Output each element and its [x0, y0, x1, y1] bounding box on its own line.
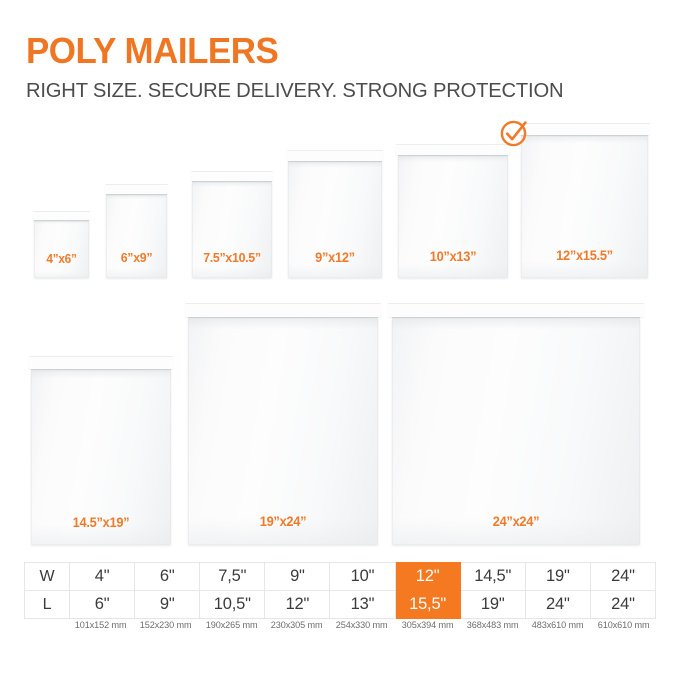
mailer-4x6[interactable]: 4”x6”: [34, 211, 89, 278]
cell-width-5-selected[interactable]: 12": [395, 563, 460, 591]
mm-dimensions-row: 101x152 mm 152x230 mm 190x265 mm 230x305…: [24, 620, 656, 631]
mailer-flap: [185, 303, 381, 317]
mailer-flap: [105, 184, 168, 194]
mailer-size-label: 12”x15.5”: [524, 248, 645, 263]
mailer-size-label: 14.5”x19”: [35, 515, 168, 530]
mailer-7-5x10-5[interactable]: 7.5”x10.5”: [192, 171, 272, 278]
cell-width-1[interactable]: 6": [135, 563, 200, 591]
check-circle-icon: [498, 115, 532, 149]
table-row-length: L 6" 9" 10,5" 12" 13" 15,5" 19" 24" 24": [25, 591, 656, 619]
mailer-14-5x19[interactable]: 14.5”x19”: [31, 356, 171, 545]
mm-value-5: 305x394 mm: [396, 620, 459, 631]
cell-length-1[interactable]: 9": [135, 591, 200, 619]
mm-value-0: 101x152 mm: [69, 620, 132, 631]
row-header-width: W: [25, 563, 70, 591]
header: POLY MAILERS RIGHT SIZE. SECURE DELIVERY…: [26, 30, 646, 104]
cell-length-0[interactable]: 6": [70, 591, 135, 619]
mailer-19x24[interactable]: 19”x24”: [188, 303, 378, 545]
cell-length-3[interactable]: 12": [265, 591, 330, 619]
mailer-size-label: 19”x24”: [193, 514, 374, 529]
mailer-size-label: 24”x24”: [398, 514, 634, 529]
table-row-width: W 4" 6" 7,5" 9" 10" 12" 14,5" 19" 24": [25, 563, 656, 591]
cell-width-8[interactable]: 24": [590, 563, 655, 591]
cell-length-4[interactable]: 13": [330, 591, 395, 619]
cell-length-5-selected[interactable]: 15,5": [395, 591, 460, 619]
mailer-flap: [519, 123, 650, 135]
mailer-6x9[interactable]: 6”x9”: [106, 184, 167, 278]
mailer-size-label: 7.5”x10.5”: [194, 250, 270, 265]
row-header-length: L: [25, 591, 70, 619]
cell-length-8[interactable]: 24": [590, 591, 655, 619]
cell-width-7[interactable]: 19": [525, 563, 590, 591]
page-subtitle: RIGHT SIZE. SECURE DELIVERY. STRONG PROT…: [26, 78, 637, 104]
mailer-body: [34, 221, 89, 278]
poly-mailers-size-chart: POLY MAILERS RIGHT SIZE. SECURE DELIVERY…: [0, 0, 680, 680]
mailer-flap: [33, 211, 90, 220]
page-title: POLY MAILERS: [26, 30, 627, 72]
mailer-flap: [388, 303, 643, 317]
mm-row-spacer: [24, 620, 68, 631]
mm-value-6: 368x483 mm: [461, 620, 524, 631]
mailer-flap: [29, 356, 173, 369]
cell-width-6[interactable]: 14,5": [460, 563, 525, 591]
mm-value-7: 483x610 mm: [527, 620, 590, 631]
mailer-12x15-5[interactable]: 12”x15.5”: [521, 123, 648, 278]
cell-width-2[interactable]: 7,5": [200, 563, 265, 591]
mailer-flap: [191, 171, 273, 181]
mailer-9x12[interactable]: 9”x12”: [288, 150, 382, 278]
mm-value-4: 254x330 mm: [331, 620, 394, 631]
cell-width-0[interactable]: 4": [70, 563, 135, 591]
mailer-size-label: 10”x13”: [401, 249, 506, 264]
mailer-size-label: 6”x9”: [108, 250, 166, 265]
mailer-size-label: 9”x12”: [290, 250, 379, 265]
mm-value-2: 190x265 mm: [200, 620, 263, 631]
mailer-size-label: 4”x6”: [35, 252, 87, 266]
cell-length-6[interactable]: 19": [460, 591, 525, 619]
mailer-24x24[interactable]: 24”x24”: [392, 303, 640, 545]
mailer-body: [392, 318, 640, 545]
cell-width-3[interactable]: 9": [265, 563, 330, 591]
mm-value-1: 152x230 mm: [135, 620, 198, 631]
cell-length-2[interactable]: 10,5": [200, 591, 265, 619]
cell-length-7[interactable]: 24": [525, 591, 590, 619]
mailer-flap: [287, 150, 384, 161]
mm-value-8: 610x610 mm: [592, 620, 655, 631]
size-table: W 4" 6" 7,5" 9" 10" 12" 14,5" 19" 24" L …: [24, 562, 656, 619]
mailer-body: [106, 195, 167, 278]
mm-value-3: 230x305 mm: [265, 620, 328, 631]
cell-width-4[interactable]: 10": [330, 563, 395, 591]
mailer-flap: [396, 144, 509, 155]
mailer-10x13[interactable]: 10”x13”: [398, 144, 508, 278]
mailer-body: [188, 318, 378, 545]
